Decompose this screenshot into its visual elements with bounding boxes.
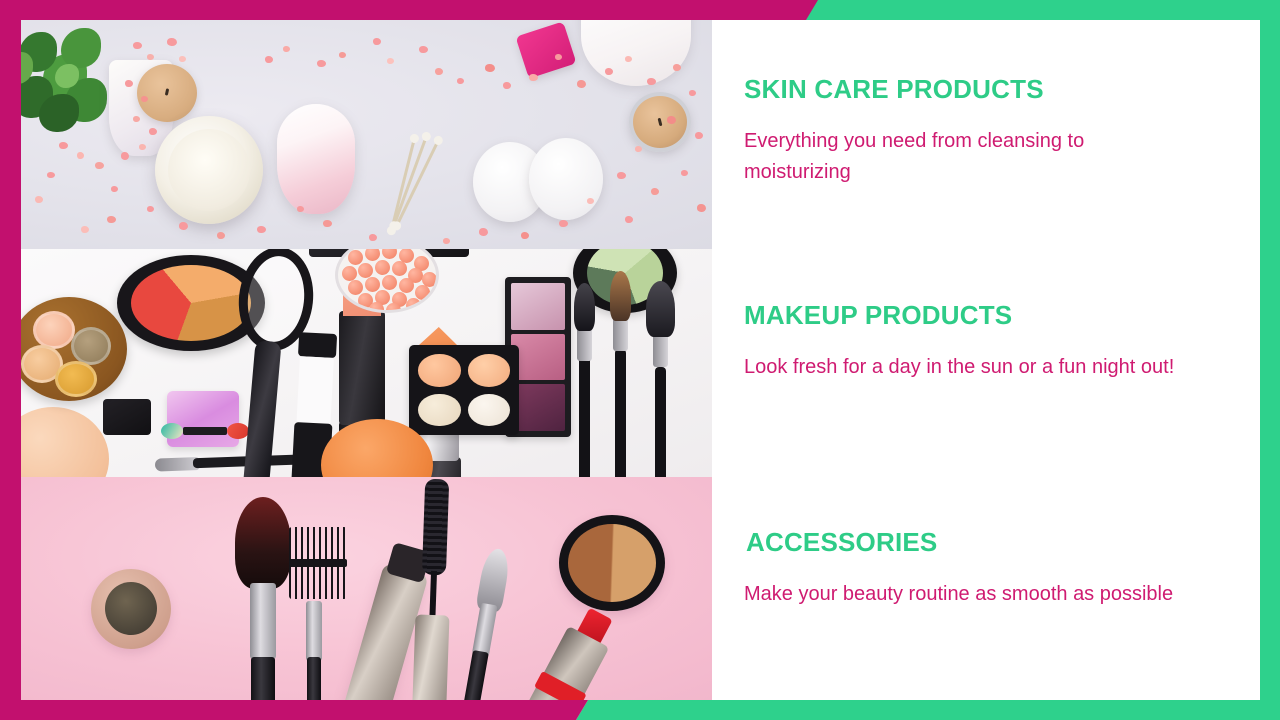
text-column: SKIN CARE PRODUCTS Everything you need f… xyxy=(712,20,1260,700)
succulent-plant-icon xyxy=(21,24,117,132)
skin-care-body: Everything you need from cleansing to mo… xyxy=(744,126,1184,188)
section-accessories: ACCESSORIES Make your beauty routine as … xyxy=(744,528,1184,610)
loose-powder-pot xyxy=(91,569,171,649)
slide-canvas: SKIN CARE PRODUCTS Everything you need f… xyxy=(0,0,1280,720)
mascara-wand xyxy=(424,479,444,665)
top-band-magenta xyxy=(0,0,818,20)
slide-content: SKIN CARE PRODUCTS Everything you need f… xyxy=(21,20,1260,700)
accessories-photo xyxy=(21,477,712,700)
makeup-photo xyxy=(21,249,712,477)
brow-comb-brush xyxy=(289,527,345,700)
accessories-body: Make your beauty routine as smooth as po… xyxy=(744,579,1184,610)
image-column xyxy=(21,20,712,700)
nail-polish-cap xyxy=(103,399,151,435)
cotton-pad xyxy=(529,138,603,220)
skin-care-photo xyxy=(21,20,712,249)
cream-jar xyxy=(155,116,263,224)
makeup-brush-set xyxy=(569,305,697,477)
accessories-heading: ACCESSORIES xyxy=(746,528,1184,557)
brush-handle xyxy=(615,349,626,477)
lipstick-body xyxy=(339,311,385,425)
right-band-green xyxy=(1260,0,1280,720)
left-band-magenta xyxy=(0,0,21,720)
comb-icon xyxy=(289,527,347,599)
pink-bottle xyxy=(277,104,355,214)
section-skin-care: SKIN CARE PRODUCTS Everything you need f… xyxy=(744,75,1184,188)
makeup-heading: MAKEUP PRODUCTS xyxy=(744,301,1184,330)
tin-candle-icon xyxy=(629,92,691,152)
bottom-band-magenta xyxy=(0,700,600,720)
four-pan-concealer-palette xyxy=(409,345,519,435)
powder-brush xyxy=(233,497,293,700)
dual-eyeshadow-applicator xyxy=(161,423,249,439)
makeup-body: Look fresh for a day in the sun or a fun… xyxy=(744,352,1184,383)
duo-bronzer-compact xyxy=(559,515,665,611)
skin-care-heading: SKIN CARE PRODUCTS xyxy=(744,75,1184,104)
brush-handle xyxy=(655,367,666,477)
section-makeup: MAKEUP PRODUCTS Look fresh for a day in … xyxy=(744,301,1184,383)
brush-handle xyxy=(579,357,590,477)
candle-icon xyxy=(137,64,197,122)
